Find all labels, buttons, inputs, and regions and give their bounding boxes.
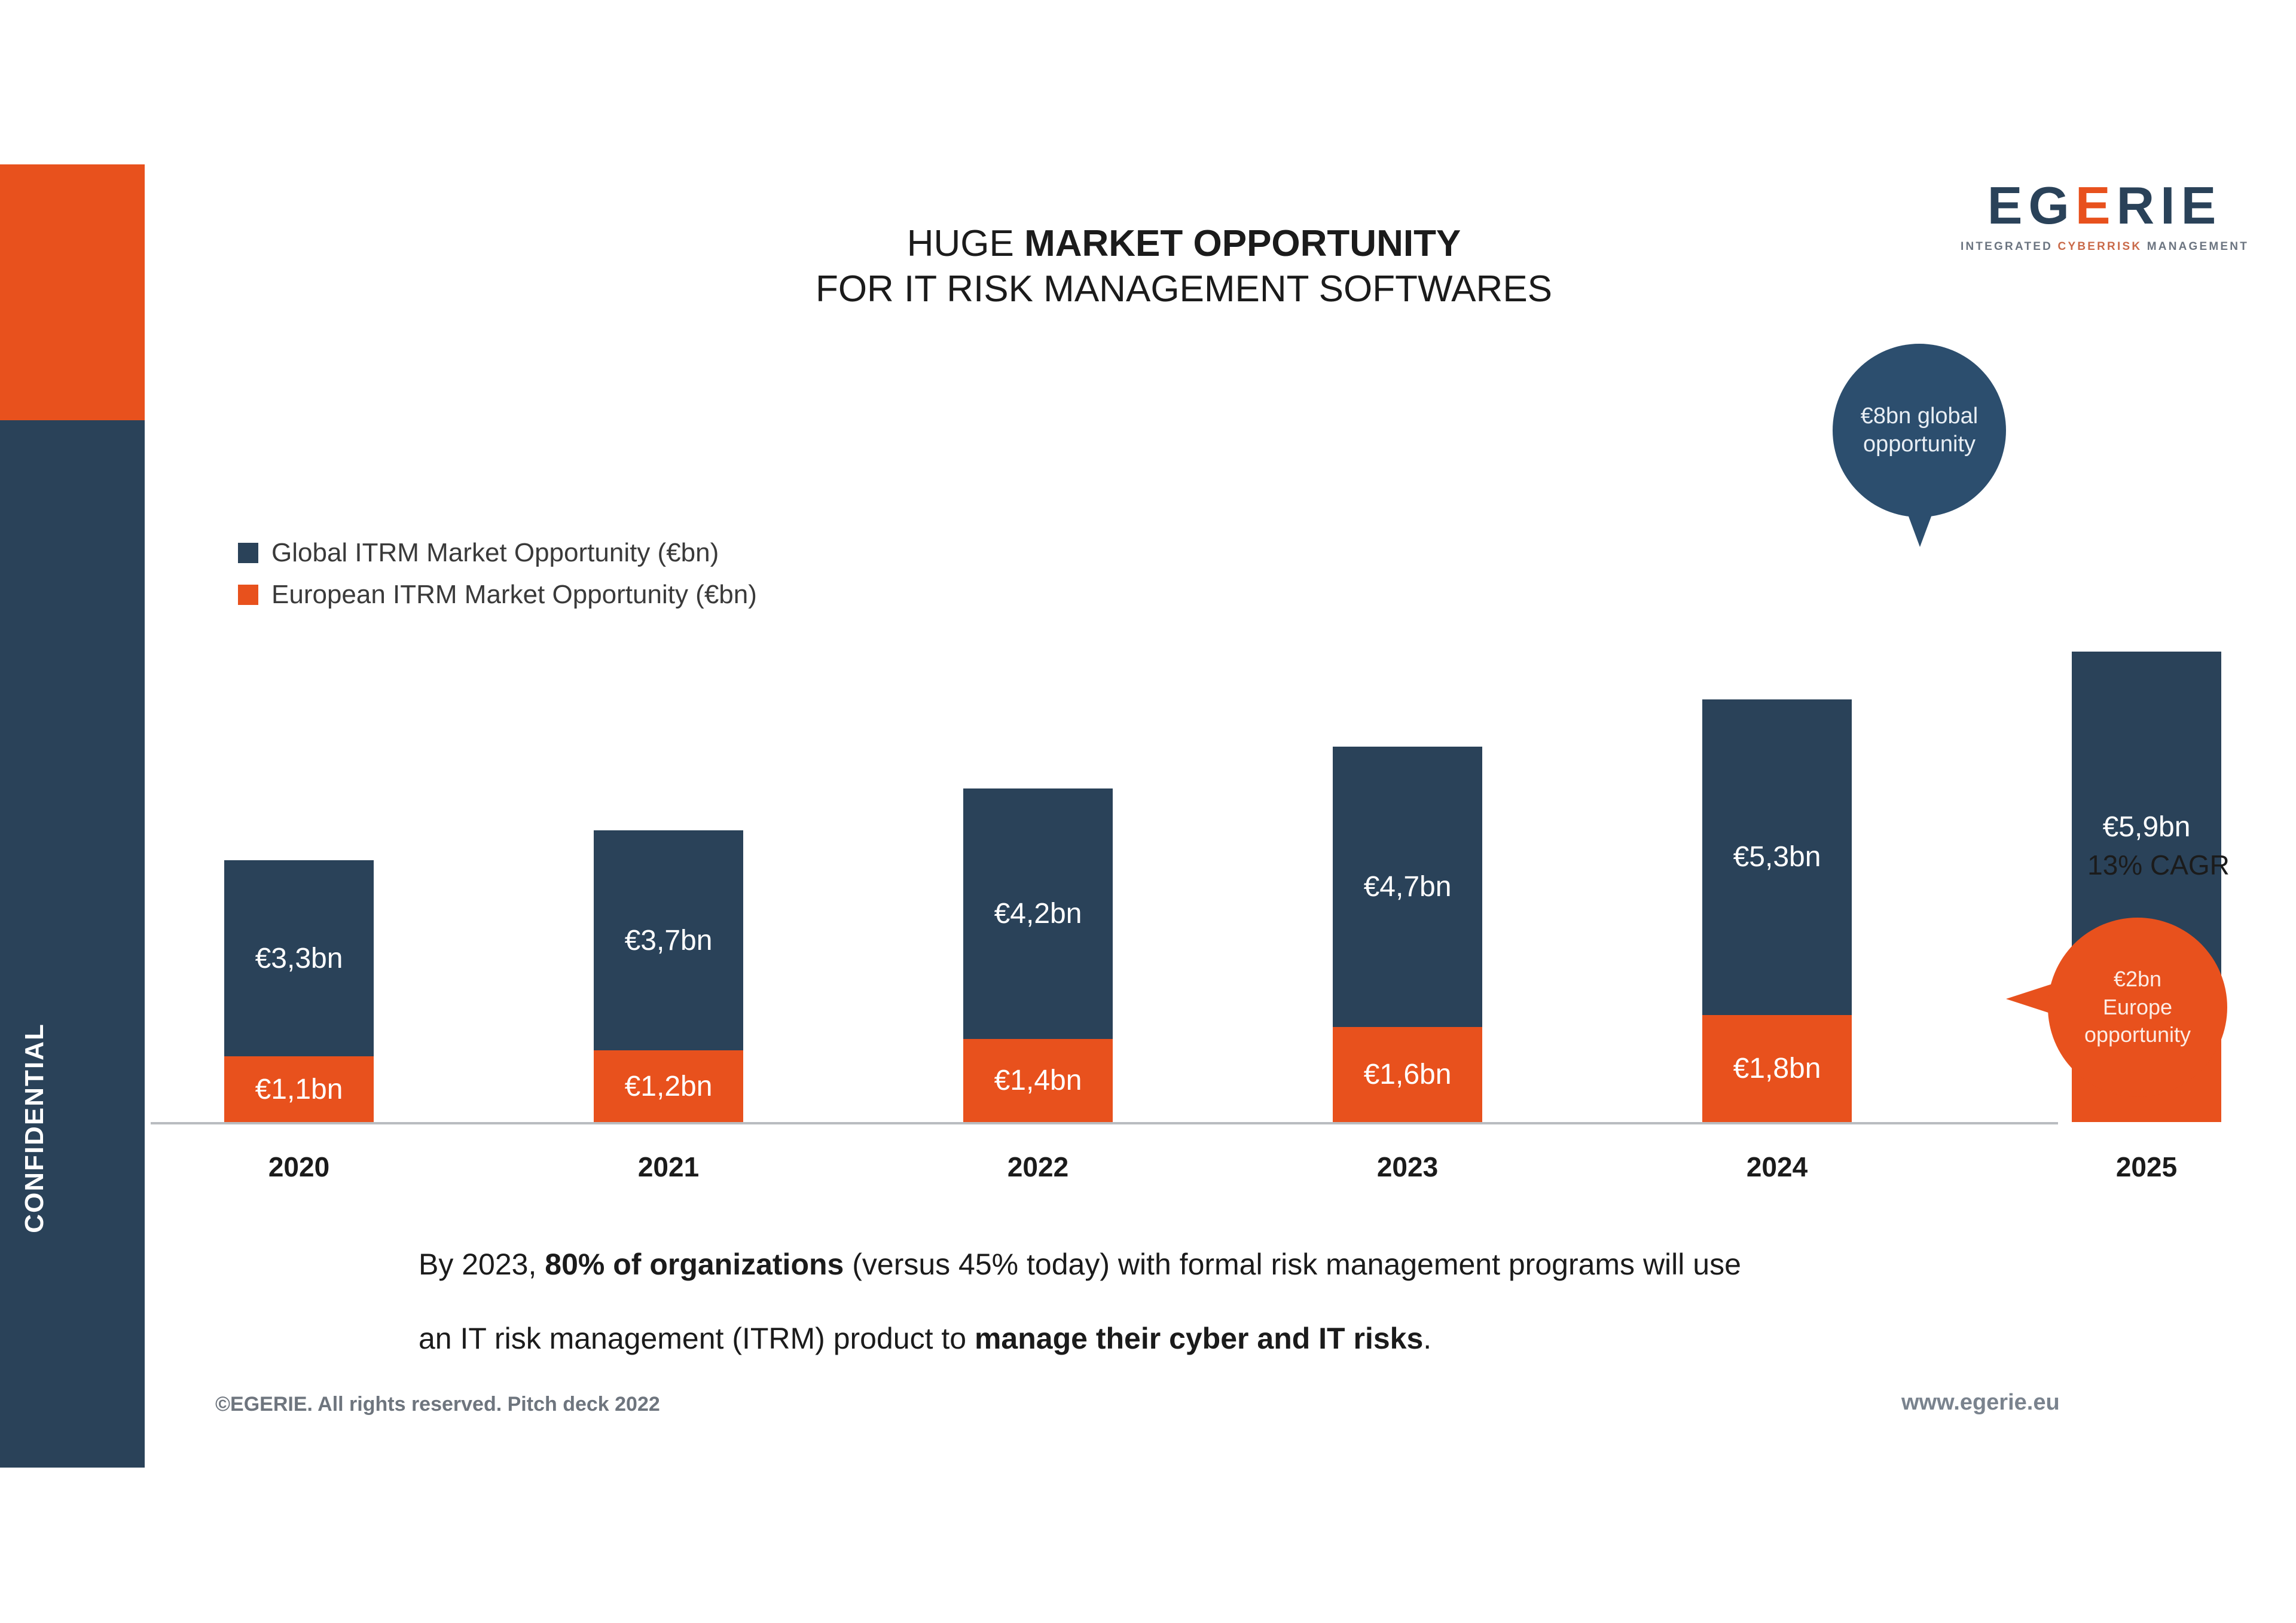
global-opportunity-callout: €8bn global opportunity <box>1833 344 2006 517</box>
bar-label-european: €1,4bn <box>994 1064 1082 1097</box>
bar-group[interactable]: €3,3bn€1,1bn <box>224 860 374 1122</box>
bar-group[interactable]: €5,3bn€1,8bn <box>1702 699 1852 1122</box>
x-axis-tick-2024: 2024 <box>1702 1151 1852 1183</box>
europe-callout-text: €2bn Europe opportunity <box>2084 965 2191 1049</box>
body-line2-a: an IT risk management (ITRM) product to <box>419 1322 975 1355</box>
bar-segment-global[interactable]: €4,7bn <box>1333 747 1482 1026</box>
body-copy: By 2023, 80% of organizations (versus 45… <box>419 1249 2033 1398</box>
europe-callout-line2: Europe <box>2103 995 2172 1019</box>
europe-callout-line3: opportunity <box>2084 1022 2191 1047</box>
bar-label-european: €1,6bn <box>1364 1058 1452 1091</box>
bar-segment-european[interactable]: €1,1bn <box>224 1056 374 1122</box>
bar-segment-global[interactable]: €3,7bn <box>594 830 743 1051</box>
bar-label-global: €3,3bn <box>255 942 343 975</box>
europe-callout-line1: €2bn <box>2114 967 2161 991</box>
cagr-label: 13% CAGR <box>2033 849 2284 881</box>
body-line-1: By 2023, 80% of organizations (versus 45… <box>419 1249 2033 1279</box>
x-axis-tick-2022: 2022 <box>963 1151 1113 1183</box>
body-line2-b: manage their cyber and IT risks <box>975 1322 1423 1355</box>
bar-label-european: €1,1bn <box>255 1073 343 1106</box>
copyright-notice: ©EGERIE. All rights reserved. Pitch deck… <box>215 1393 660 1416</box>
bar-segment-global[interactable]: €4,2bn <box>963 788 1113 1038</box>
global-callout-text: €8bn global opportunity <box>1861 402 1979 459</box>
x-axis-line <box>151 1122 2058 1124</box>
bar-segment-european[interactable]: €1,2bn <box>594 1050 743 1122</box>
bar-label-global: €3,7bn <box>625 924 713 957</box>
bar-segment-european[interactable]: €1,8bn <box>1702 1015 1852 1122</box>
bar-segment-global[interactable]: €3,3bn <box>224 860 374 1057</box>
body-line-2: an IT risk management (ITRM) product to … <box>419 1324 2033 1353</box>
body-line1-b: 80% of organizations <box>545 1248 844 1281</box>
bar-segment-european[interactable]: €1,6bn <box>1333 1027 1482 1122</box>
global-callout-line2: opportunity <box>1863 432 1976 457</box>
body-line1-a: By 2023, <box>419 1248 545 1281</box>
bar-segment-global[interactable]: €5,3bn <box>1702 699 1852 1015</box>
bar-label-global: €4,7bn <box>1364 870 1452 903</box>
x-axis-tick-2021: 2021 <box>594 1151 743 1183</box>
europe-opportunity-callout: €2bn Europe opportunity <box>2048 918 2227 1097</box>
x-axis-tick-2023: 2023 <box>1333 1151 1482 1183</box>
bar-label-global: €4,2bn <box>994 897 1082 930</box>
bar-label-european: €1,8bn <box>1733 1052 1821 1085</box>
x-axis-tick-2020: 2020 <box>224 1151 374 1183</box>
bar-label-global: €5,3bn <box>1733 840 1821 873</box>
global-callout-line1: €8bn global <box>1861 404 1979 429</box>
body-line1-c: (versus 45% today) with formal risk mana… <box>844 1248 1741 1281</box>
bar-label-global: €5,9bn <box>2103 811 2191 843</box>
x-axis-tick-2025: 2025 <box>2072 1151 2221 1183</box>
website-link[interactable]: www.egerie.eu <box>1901 1390 2060 1416</box>
body-line2-c: . <box>1423 1322 1431 1355</box>
bar-group[interactable]: €4,2bn€1,4bn <box>963 788 1113 1122</box>
bar-label-european: €1,2bn <box>625 1070 713 1103</box>
bar-group[interactable]: €3,7bn€1,2bn <box>594 830 743 1122</box>
bar-segment-european[interactable]: €1,4bn <box>963 1039 1113 1122</box>
europe-callout-tail-icon <box>2006 983 2054 1014</box>
bar-group[interactable]: €4,7bn€1,6bn <box>1333 747 1482 1122</box>
